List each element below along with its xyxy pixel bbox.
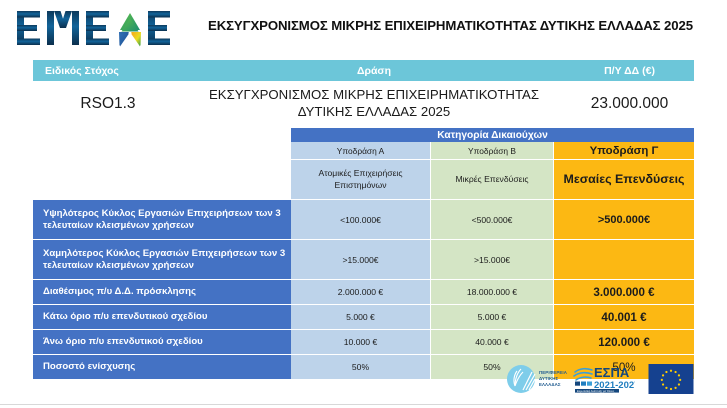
cell-objective: RSO1.3 [33, 81, 183, 127]
footer-logo-strip: ΠΕΡΙΦΕΡΕΙΑ ΔΥΤΙΚΗΣ ΕΛΛΑΔΑΣ ΕΣΠΑ 2021-202… [506, 362, 721, 396]
row-1-value-a: >15.000€ [291, 240, 431, 280]
row-3-value-b: 5.000 € [431, 305, 554, 330]
perifereia-dytikis-elladas-logo: ΠΕΡΙΦΕΡΕΙΑ ΔΥΤΙΚΗΣ ΕΛΛΑΔΑΣ [506, 364, 567, 394]
row-5-value-a: 50% [291, 355, 431, 380]
slide-header: ΕΚΣΥΓΧΡΟΝΙΣΜΟΣ ΜΙΚΡΗΣ ΕΠΙΧΕΙΡΗΜΑΤΙΚΟΤΗΤΑ… [0, 0, 727, 56]
row-label-lower-limit: Κάτω όριο π/υ επενδυτικού σχεδίου [33, 305, 291, 330]
table-row: Άνω όριο π/υ επενδυτικού σχεδίου 10.000 … [33, 330, 694, 355]
row-0-value-c: >500.000€ [554, 200, 694, 240]
banner-spacer [33, 128, 291, 142]
svg-text:Ευρωπαϊκή Ανάπτυξη για Όλους: Ευρωπαϊκή Ανάπτυξη για Όλους [577, 389, 615, 393]
col-header-objective: Ειδικός Στόχος [33, 60, 183, 81]
table-row: Διαθέσιμος π/υ Δ.Δ. πρόσκλησης 2.000.000… [33, 280, 694, 305]
subaction-c-description: Μεσαίες Επενδύσεις [554, 160, 694, 200]
region-logo-line-3: ΕΛΛΑΔΑΣ [539, 382, 567, 388]
action-table-row: RSO1.3 ΕΚΣΥΓΧΡΟΝΙΣΜΟΣ ΜΙΚΡΗΣ ΕΠΙΧΕΙΡΗΜΑΤ… [33, 81, 694, 127]
action-summary-table: Ειδικός Στόχος Δράση Π/Υ ΔΔ (€) RSO1.3 Ε… [33, 60, 694, 127]
slide-canvas: ΕΚΣΥΓΧΡΟΝΙΣΜΟΣ ΜΙΚΡΗΣ ΕΠΙΧΕΙΡΗΜΑΤΙΚΟΤΗΤΑ… [0, 0, 727, 408]
row-2-value-b: 18.000.000 € [431, 280, 554, 305]
row-1-value-c [554, 240, 694, 280]
subaction-name-spacer [33, 142, 291, 160]
subaction-b-description: Μικρές Επενδύσεις [431, 160, 554, 200]
beneficiary-category-table: Κατηγορία Δικαιούχων Υποδράση Α Υποδράση… [33, 128, 694, 380]
region-logo-text: ΠΕΡΙΦΕΡΕΙΑ ΔΥΤΙΚΗΣ ΕΛΛΑΔΑΣ [539, 370, 567, 388]
row-label-upper-limit: Άνω όριο π/υ επενδυτικού σχεδίου [33, 330, 291, 355]
table-row: Υψηλότερος Κύκλος Εργασιών Επιχειρήσεων … [33, 200, 694, 240]
row-3-value-a: 5.000 € [291, 305, 431, 330]
row-0-value-a: <100.000€ [291, 200, 431, 240]
col-header-budget: Π/Υ ΔΔ (€) [565, 60, 694, 81]
row-3-value-c: 40.001 € [554, 305, 694, 330]
espa-logo: ΕΣΠΑ 2021-2027 Ευρωπαϊκή Ανάπτυξη για Όλ… [573, 364, 635, 394]
cell-action: ΕΚΣΥΓΧΡΟΝΙΣΜΟΣ ΜΙΚΡΗΣ ΕΠΙΧΕΙΡΗΜΑΤΙΚΟΤΗΤΑ… [183, 81, 565, 127]
subaction-c-name: Υποδράση Γ [554, 142, 694, 160]
row-2-value-a: 2.000.000 € [291, 280, 431, 305]
row-4-value-a: 10.000 € [291, 330, 431, 355]
beneficiary-banner-row: Κατηγορία Δικαιούχων [33, 128, 694, 142]
table-row: Χαμηλότερος Κύκλος Εργασιών Επιχειρήσεων… [33, 240, 694, 280]
subaction-a-name: Υποδράση Α [291, 142, 431, 160]
emede-logo [14, 6, 172, 50]
subaction-description-row: Ατομικές Επιχειρήσεις Επιστημόνων Μικρές… [33, 160, 694, 200]
table-row: Κάτω όριο π/υ επενδυτικού σχεδίου 5.000 … [33, 305, 694, 330]
subaction-b-name: Υποδράση Β [431, 142, 554, 160]
row-1-value-b: >15.000€ [431, 240, 554, 280]
row-4-value-b: 40.000 € [431, 330, 554, 355]
row-label-available-budget: Διαθέσιμος π/υ Δ.Δ. πρόσκλησης [33, 280, 291, 305]
row-label-lowest-turnover: Χαμηλότερος Κύκλος Εργασιών Επιχειρήσεων… [33, 240, 291, 280]
col-header-action: Δράση [183, 60, 565, 81]
european-union-flag [641, 364, 701, 394]
row-label-aid-percentage: Ποσοστό ενίσχυσης [33, 355, 291, 380]
row-label-highest-turnover: Υψηλότερος Κύκλος Εργασιών Επιχειρήσεων … [33, 200, 291, 240]
cell-budget: 23.000.000 [565, 81, 694, 127]
row-0-value-b: <500.000€ [431, 200, 554, 240]
subaction-desc-spacer [33, 160, 291, 200]
subaction-name-row: Υποδράση Α Υποδράση Β Υποδράση Γ [33, 142, 694, 160]
svg-text:ΕΣΠΑ: ΕΣΠΑ [594, 365, 630, 380]
bottom-divider [0, 404, 727, 405]
action-table-header-row: Ειδικός Στόχος Δράση Π/Υ ΔΔ (€) [33, 60, 694, 81]
beneficiary-banner-label: Κατηγορία Δικαιούχων [291, 128, 694, 142]
page-title: ΕΚΣΥΓΧΡΟΝΙΣΜΟΣ ΜΙΚΡΗΣ ΕΠΙΧΕΙΡΗΜΑΤΙΚΟΤΗΤΑ… [178, 19, 723, 34]
row-2-value-c: 3.000.000 € [554, 280, 694, 305]
row-4-value-c: 120.000 € [554, 330, 694, 355]
subaction-a-description: Ατομικές Επιχειρήσεις Επιστημόνων [291, 160, 431, 200]
